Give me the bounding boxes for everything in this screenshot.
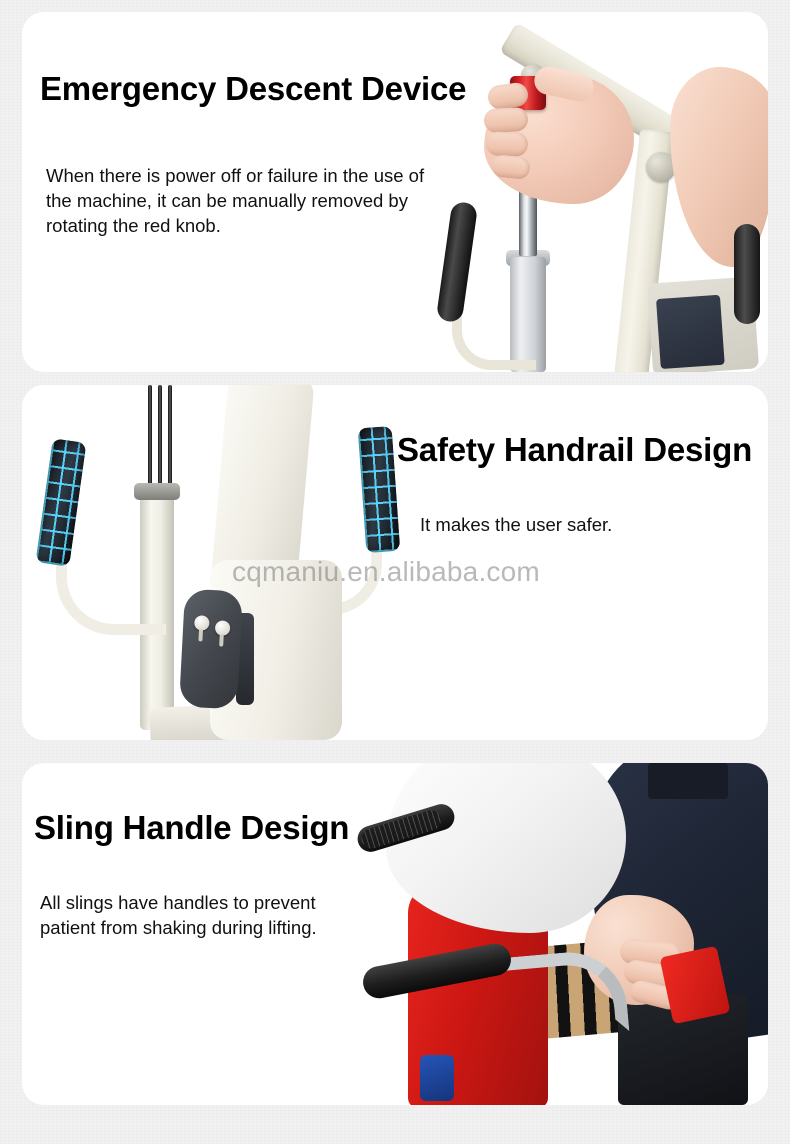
panel-headline-safety-handrail-design: Safety Handrail Design <box>397 433 752 466</box>
handrail-grip-right <box>358 426 401 553</box>
finger <box>483 107 528 133</box>
panel-headline-sling-handle-design: Sling Handle Design <box>34 811 349 844</box>
chair-back-panel <box>648 763 728 799</box>
black-handle-right <box>734 224 760 324</box>
control-pad[interactable] <box>179 589 243 710</box>
control-button-down-stem-icon <box>219 634 224 646</box>
mast-collar <box>134 483 180 500</box>
finger <box>486 131 529 156</box>
panel-headline-emergency-descent-device: Emergency Descent Device <box>40 72 466 105</box>
panel-body-emergency-descent-device: When there is power off or failure in th… <box>46 164 506 238</box>
panel-body-safety-handrail-design: It makes the user safer. <box>420 513 612 538</box>
control-button-up-stem-icon <box>198 629 203 641</box>
panel-body-sling-handle-design: All slings have handles to prevent patie… <box>40 891 440 941</box>
handrail-arm-left <box>56 555 166 635</box>
actuator-cable <box>158 385 162 487</box>
feature-panel-emergency-descent-device: Emergency Descent Device When there is p… <box>22 12 768 372</box>
feature-panel-sling-handle-design: Sling Handle Design All slings have hand… <box>22 763 768 1105</box>
handrail-grip-left <box>35 438 86 567</box>
handle-stem <box>452 292 536 370</box>
actuator-cable <box>168 385 172 487</box>
sling-badge-icon <box>420 1055 454 1101</box>
watermark-alibaba-store-url: cqmaniu.en.alibaba.com <box>232 556 540 588</box>
actuator-cable <box>148 385 152 487</box>
